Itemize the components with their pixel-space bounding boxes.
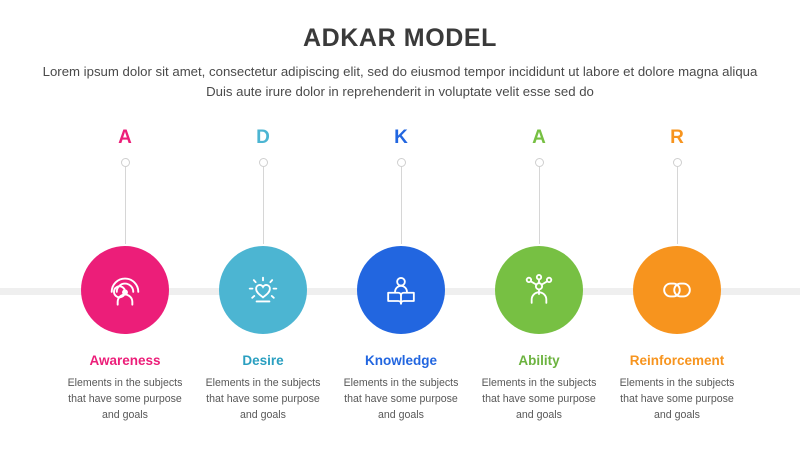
connector-line bbox=[263, 158, 264, 244]
adkar-item-ability[interactable]: A bbox=[470, 128, 608, 448]
adkar-item-awareness[interactable]: A Awareness Elements in the subjects bbox=[56, 128, 194, 448]
letter-badge: R bbox=[670, 128, 684, 150]
letter-badge: A bbox=[118, 128, 132, 150]
page-title: ADKAR MODEL bbox=[0, 0, 800, 53]
connector-dot bbox=[397, 158, 406, 167]
letter-badge: D bbox=[256, 128, 270, 150]
connector-stem bbox=[263, 167, 264, 244]
page-subtitle: Lorem ipsum dolor sit amet, consectetur … bbox=[35, 62, 765, 103]
adkar-columns: A Awareness Elements in the subjects bbox=[0, 128, 800, 448]
connector-line bbox=[125, 158, 126, 244]
awareness-signal-person-icon bbox=[103, 268, 147, 312]
reinforcement-chain-link-icon bbox=[655, 268, 699, 312]
letter-badge: A bbox=[532, 128, 546, 150]
item-description: Elements in the subjects that have some … bbox=[335, 376, 467, 424]
item-title: Knowledge bbox=[365, 353, 437, 369]
connector-dot bbox=[121, 158, 130, 167]
item-title: Reinforcement bbox=[630, 353, 725, 369]
adkar-infographic: ADKAR MODEL Lorem ipsum dolor sit amet, … bbox=[0, 0, 800, 450]
item-title: Desire bbox=[242, 353, 283, 369]
item-description: Elements in the subjects that have some … bbox=[473, 376, 605, 424]
connector-dot bbox=[259, 158, 268, 167]
knowledge-book-person-icon bbox=[379, 268, 423, 312]
connector-stem bbox=[677, 167, 678, 244]
item-description: Elements in the subjects that have some … bbox=[59, 376, 191, 424]
connector-stem bbox=[539, 167, 540, 244]
adkar-item-reinforcement[interactable]: R Reinforcement Elements in the subjects… bbox=[608, 128, 746, 448]
icon-circle[interactable] bbox=[495, 246, 583, 334]
connector-line bbox=[401, 158, 402, 244]
connector-line bbox=[539, 158, 540, 244]
letter-badge: K bbox=[394, 128, 408, 150]
connector-stem bbox=[401, 167, 402, 244]
item-title: Awareness bbox=[89, 353, 160, 369]
desire-heart-shield-icon bbox=[241, 268, 285, 312]
adkar-item-knowledge[interactable]: K Knowledge Elements in the subjects tha… bbox=[332, 128, 470, 448]
ability-network-person-icon bbox=[517, 268, 561, 312]
item-title: Ability bbox=[518, 353, 559, 369]
item-description: Elements in the subjects that have some … bbox=[611, 376, 743, 424]
connector-line bbox=[677, 158, 678, 244]
adkar-item-desire[interactable]: D bbox=[194, 128, 332, 448]
icon-circle[interactable] bbox=[357, 246, 445, 334]
icon-circle[interactable] bbox=[81, 246, 169, 334]
icon-circle[interactable] bbox=[219, 246, 307, 334]
connector-dot bbox=[673, 158, 682, 167]
connector-stem bbox=[125, 167, 126, 244]
icon-circle[interactable] bbox=[633, 246, 721, 334]
item-description: Elements in the subjects that have some … bbox=[197, 376, 329, 424]
connector-dot bbox=[535, 158, 544, 167]
